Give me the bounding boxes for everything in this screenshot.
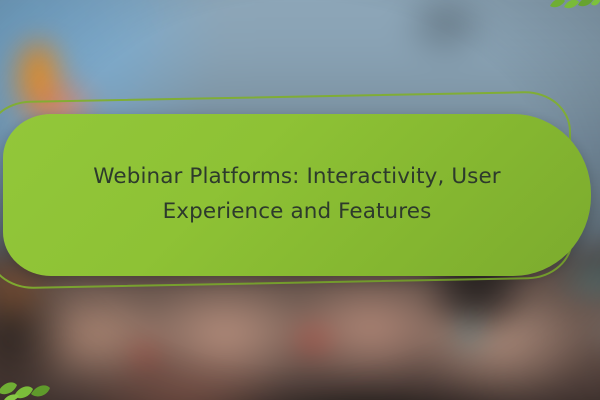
title-card: Webinar Platforms: Interactivity, User E… xyxy=(3,114,591,276)
page-title: Webinar Platforms: Interactivity, User E… xyxy=(82,160,512,230)
title-line-2: Experience and Features xyxy=(163,199,432,224)
background-blob-red-2 xyxy=(125,338,165,372)
background-blob-red-1 xyxy=(290,320,336,360)
title-line-1: Webinar Platforms: Interactivity, User xyxy=(93,164,500,189)
slide-canvas: Webinar Platforms: Interactivity, User E… xyxy=(0,0,600,400)
background-blob-teal-2 xyxy=(452,312,488,356)
